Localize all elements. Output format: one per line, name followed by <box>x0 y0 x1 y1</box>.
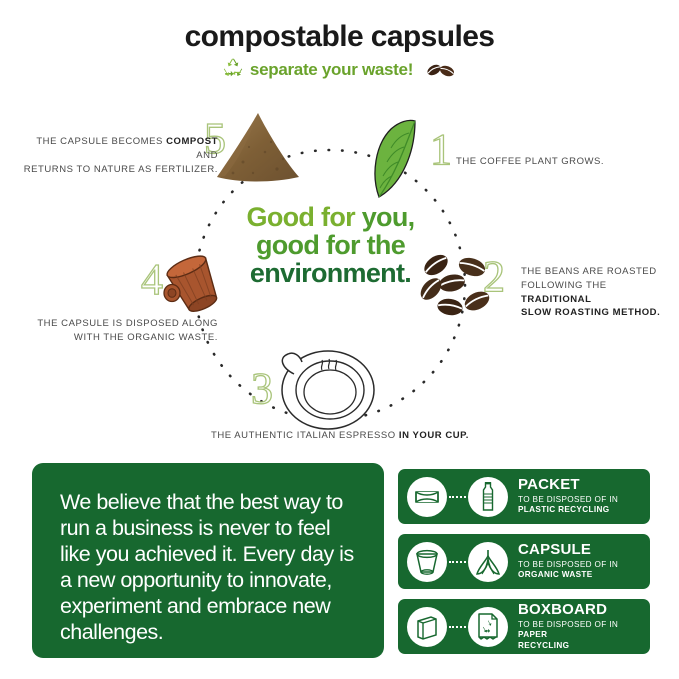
card-sub-regular: TO BE DISPOSED OF IN <box>518 495 618 504</box>
card-text-capsule: CAPSULE TO BE DISPOSED OF IN ORGANIC WAS… <box>518 542 618 581</box>
step-2-text-line2-bold: TRADITIONAL <box>521 294 591 305</box>
sachet-packet-icon <box>407 477 447 517</box>
header-subrow: separate your waste! <box>0 57 679 82</box>
infographic-page: compostable capsules separate your waste… <box>0 0 679 679</box>
card-connector-dash <box>449 496 466 498</box>
card-title: CAPSULE <box>518 542 618 558</box>
card-sub-bold: ORGANIC WASTE <box>518 570 593 579</box>
slogan-line1-a: Good for <box>247 202 362 232</box>
recycle-icon <box>222 57 244 82</box>
step-number-2: 2 <box>483 255 505 299</box>
step-4-caption: THE CAPSULE IS DISPOSED ALONG WITH THE O… <box>18 317 218 345</box>
card-sub-bold: PAPER <box>518 630 547 639</box>
step-number-1: 1 <box>430 128 452 172</box>
quote-text: We believe that the best way to run a bu… <box>60 489 358 645</box>
card-title: BOXBOARD <box>518 602 650 618</box>
step-5-text-a: THE CAPSULE BECOMES <box>36 136 166 147</box>
lifecycle-diagram: Good for you, good for the environment. <box>0 95 679 455</box>
disposal-card-packet[interactable]: PACKET TO BE DISPOSED OF IN PLASTIC RECY… <box>398 469 650 524</box>
card-subtitle: TO BE DISPOSED OF IN ORGANIC WASTE <box>518 560 618 581</box>
compost-pile-icon <box>213 107 305 190</box>
step-number-3: 3 <box>251 367 273 411</box>
coffee-leaf-icon <box>369 117 431 206</box>
step-5-text-bold: COMPOST <box>166 136 218 147</box>
card-title: PACKET <box>518 477 618 493</box>
step-4-text-line1: THE CAPSULE IS DISPOSED ALONG <box>37 318 218 329</box>
card-connector-dash <box>449 626 466 628</box>
step-3-caption: THE AUTHENTIC ITALIAN ESPRESSO IN YOUR C… <box>190 429 490 443</box>
slogan-line2: good for the <box>228 231 433 259</box>
step-number-4: 4 <box>141 258 163 302</box>
step-2-text-line3: SLOW ROASTING METHOD. <box>521 307 660 318</box>
card-text-packet: PACKET TO BE DISPOSED OF IN PLASTIC RECY… <box>518 477 618 516</box>
carton-box-icon <box>407 607 447 647</box>
card-text-boxboard: BOXBOARD TO BE DISPOSED OF IN PAPER RECY… <box>518 602 650 651</box>
center-slogan: Good for you, good for the environment. <box>228 203 433 287</box>
plastic-bottle-icon <box>468 477 508 517</box>
disposal-cards: PACKET TO BE DISPOSED OF IN PLASTIC RECY… <box>398 469 650 664</box>
card-sub-tail: RECYCLING <box>518 641 569 650</box>
step-2-text-line1: THE BEANS ARE ROASTED <box>521 266 657 277</box>
step-2-caption: THE BEANS ARE ROASTED FOLLOWING THE TRAD… <box>521 265 671 320</box>
slogan-line1-b: you, <box>362 202 415 232</box>
step-5-text-tail: AND <box>196 150 218 161</box>
slogan-line3: environment. <box>228 259 433 287</box>
coffee-capsule-icon <box>160 253 230 324</box>
step-2-text-line2: FOLLOWING THE <box>521 280 607 291</box>
card-connector-dash <box>449 561 466 563</box>
card-sub-bold: PLASTIC RECYCLING <box>518 505 609 514</box>
step-3-text-regular: THE AUTHENTIC ITALIAN ESPRESSO <box>211 430 399 441</box>
disposal-card-capsule[interactable]: CAPSULE TO BE DISPOSED OF IN ORGANIC WAS… <box>398 534 650 589</box>
step-1-text: THE COFFEE PLANT GROWS. <box>456 156 604 167</box>
card-sub-regular: TO BE DISPOSED OF IN <box>518 560 618 569</box>
coffee-bean-icon <box>423 60 457 80</box>
card-sub-regular: TO BE DISPOSED OF IN <box>518 620 618 629</box>
coffee-capsule-icon <box>407 542 447 582</box>
step-1-caption: THE COFFEE PLANT GROWS. <box>456 155 656 169</box>
step-5-text-line2: RETURNS TO NATURE AS FERTILIZER. <box>24 164 218 175</box>
banana-peel-icon <box>468 542 508 582</box>
disposal-card-boxboard[interactable]: BOXBOARD TO BE DISPOSED OF IN PAPER RECY… <box>398 599 650 654</box>
step-4-text-line2: WITH THE ORGANIC WASTE. <box>74 332 218 343</box>
step-3-text-bold: IN YOUR CUP. <box>399 430 469 441</box>
header-subtitle: separate your waste! <box>250 60 413 80</box>
card-subtitle: TO BE DISPOSED OF IN PAPER RECYCLING <box>518 620 650 652</box>
paper-recycling-icon <box>468 607 508 647</box>
espresso-cup-icon <box>272 340 382 437</box>
header: compostable capsules separate your waste… <box>0 22 679 82</box>
page-title: compostable capsules <box>0 22 679 52</box>
card-subtitle: TO BE DISPOSED OF IN PLASTIC RECYCLING <box>518 495 618 516</box>
quote-box: We believe that the best way to run a bu… <box>32 463 384 658</box>
step-5-caption: THE CAPSULE BECOMES COMPOST AND RETURNS … <box>18 135 218 176</box>
